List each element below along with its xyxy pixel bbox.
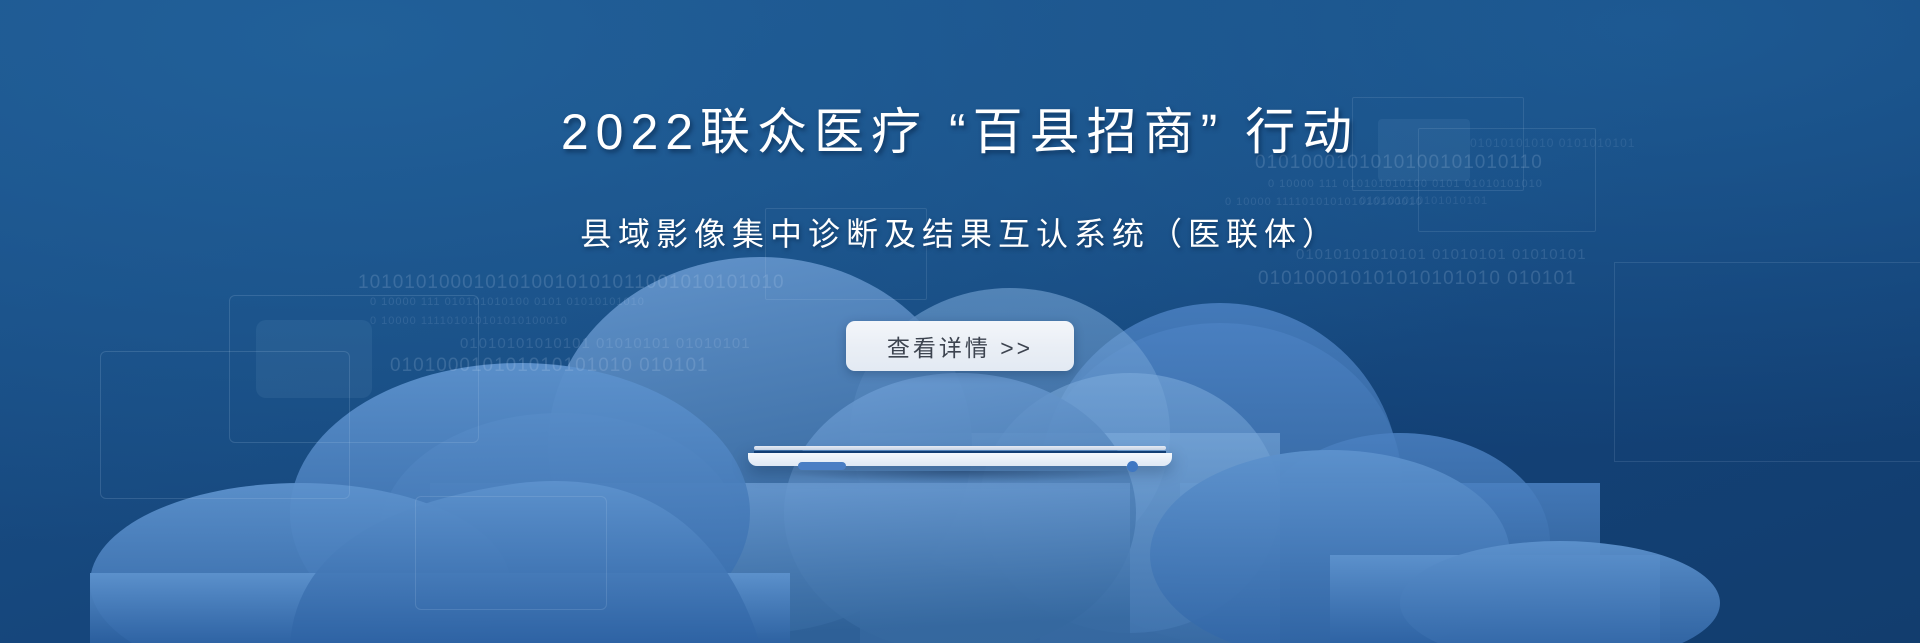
- banner-title: 2022联众医疗 “百县招商” 行动: [561, 103, 1359, 161]
- banner-subtitle: 县域影像集中诊断及结果互认系统（医联体）: [580, 215, 1340, 253]
- promo-banner: 1010101000101010010101011001010101010 0 …: [0, 0, 1920, 643]
- banner-content: 2022联众医疗 “百县招商” 行动 县域影像集中诊断及结果互认系统（医联体） …: [0, 0, 1920, 643]
- view-details-button[interactable]: 查看详情 >>: [846, 321, 1074, 371]
